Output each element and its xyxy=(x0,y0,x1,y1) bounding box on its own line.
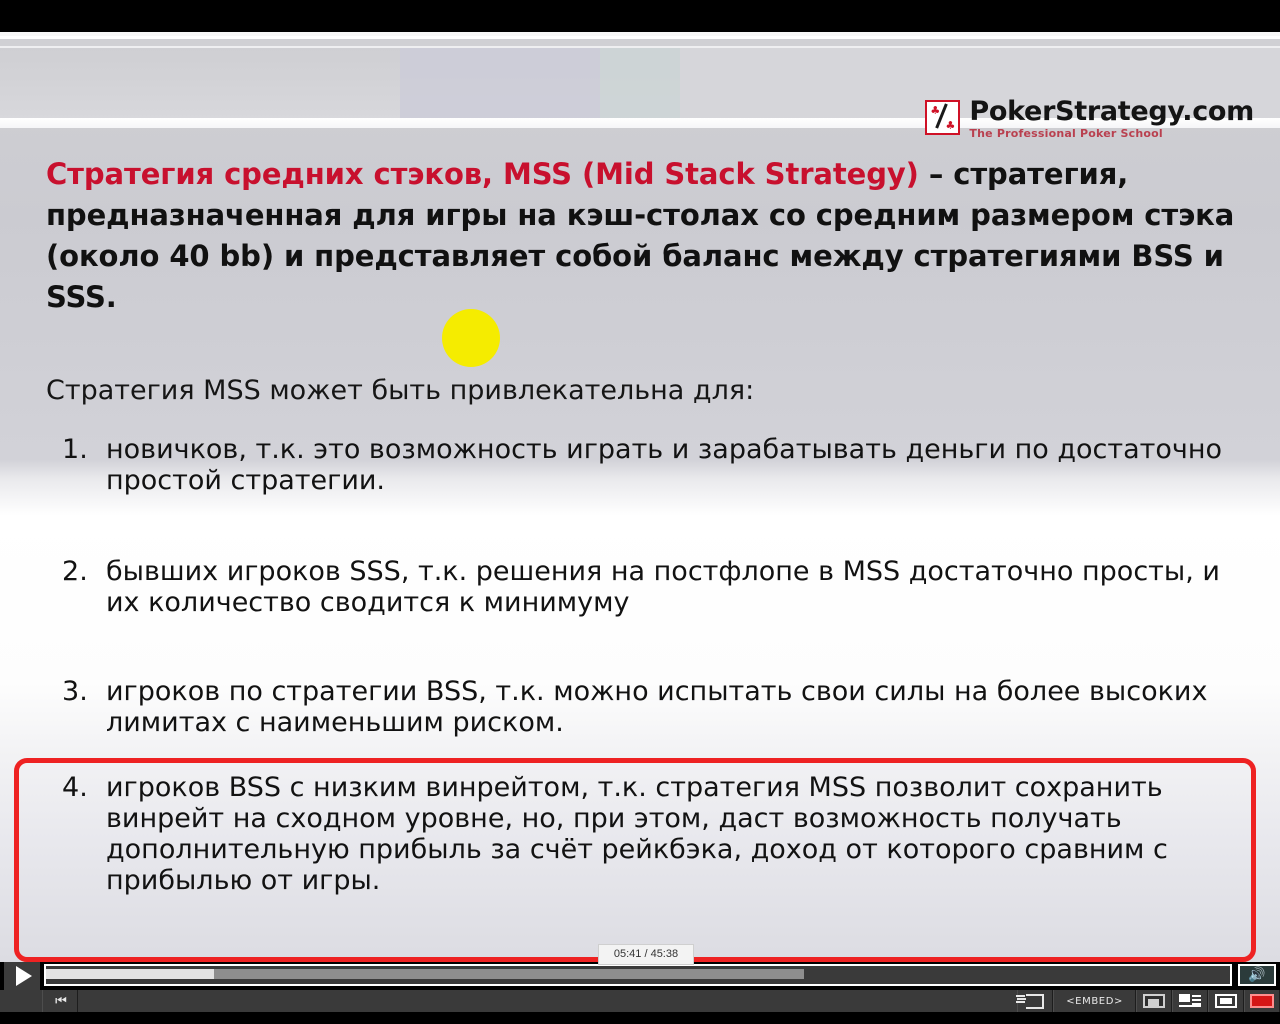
picture-in-picture-icon xyxy=(1143,994,1165,1008)
list-item: бывших игроков SSS, т.к. решения на пост… xyxy=(52,556,1250,618)
slide-content: Стратегия средних стэков, MSS (Mid Stack… xyxy=(0,128,1280,896)
picture-in-picture-button[interactable] xyxy=(1136,990,1172,1012)
logo-text-block: PokerStrategy.com The Professional Poker… xyxy=(969,98,1254,139)
list-item: новичков, т.к. это возможность играть и … xyxy=(52,434,1250,496)
player-footer-bar xyxy=(0,1012,1280,1024)
volume-icon: 🔊 xyxy=(1248,968,1265,982)
club-suit-bottom-icon: ♣ xyxy=(946,120,956,131)
embed-button[interactable]: <EMBED> xyxy=(1053,990,1136,1012)
club-suit-top-icon: ♣ xyxy=(930,105,940,116)
button-row-spacer xyxy=(78,990,1017,1012)
playback-time-tooltip: 05:41 / 45:38 xyxy=(598,944,694,965)
play-icon xyxy=(16,966,32,986)
rewind-button[interactable]: ⏮ xyxy=(42,990,78,1012)
video-player-stage: ♣ ♣ PokerStrategy.com The Professional P… xyxy=(0,0,1280,1024)
cursor-highlight-dot xyxy=(442,309,500,367)
logo-card-icon: ♣ ♣ xyxy=(925,100,960,135)
popout-icon xyxy=(1026,994,1044,1009)
slide-points-list: новичков, т.к. это возможность играть и … xyxy=(0,408,1280,896)
list-item: игроков BSS с низким винрейтом, т.к. стр… xyxy=(52,772,1250,896)
record-icon xyxy=(1250,994,1274,1008)
player-button-row: ⏮ <EMBED> xyxy=(0,990,1280,1012)
volume-button[interactable]: 🔊 xyxy=(1238,964,1276,986)
pokerstrategy-logo: ♣ ♣ PokerStrategy.com The Professional P… xyxy=(925,98,1254,139)
logo-name: PokerStrategy.com xyxy=(969,98,1254,125)
player-controls: 🔊 ⏮ <EMBED> xyxy=(0,962,1280,1024)
fullscreen-button[interactable] xyxy=(1208,990,1244,1012)
seek-bar[interactable] xyxy=(44,964,1232,986)
top-letterbox xyxy=(0,0,1280,32)
rewind-icon: ⏮ xyxy=(55,994,65,1009)
play-button[interactable] xyxy=(4,962,40,990)
fullscreen-icon xyxy=(1215,994,1237,1008)
playlist-button[interactable] xyxy=(1172,990,1208,1012)
slide-subheading: Стратегия MSS может быть привлекательна … xyxy=(0,318,1280,408)
playlist-icon xyxy=(1179,994,1201,1008)
seek-bar-progress xyxy=(46,969,214,979)
record-button[interactable] xyxy=(1244,990,1280,1012)
list-item: игроков по стратегии BSS, т.к. можно исп… xyxy=(52,676,1250,738)
logo-tagline: The Professional Poker School xyxy=(969,128,1254,139)
slide-lead-highlight: Стратегия средних стэков, MSS (Mid Stack… xyxy=(46,157,919,191)
popout-button[interactable] xyxy=(1017,990,1053,1012)
scrubber-row: 🔊 xyxy=(0,962,1280,990)
slide-lead-paragraph: Стратегия средних стэков, MSS (Mid Stack… xyxy=(0,128,1280,318)
presentation-slide: ♣ ♣ PokerStrategy.com The Professional P… xyxy=(0,32,1280,962)
